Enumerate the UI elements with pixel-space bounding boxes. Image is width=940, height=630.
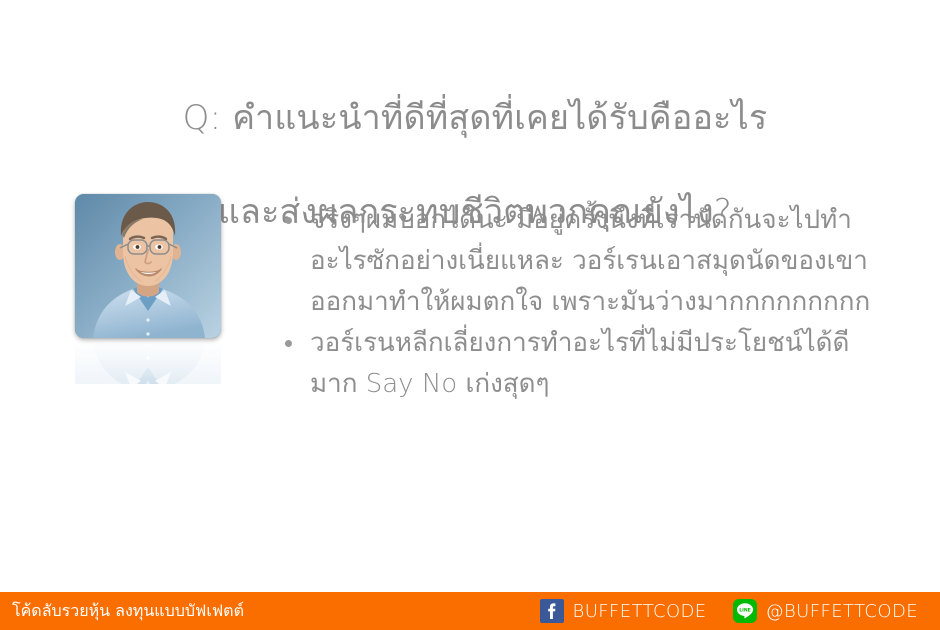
facebook-link[interactable]: BUFFETTCODE — [540, 599, 707, 623]
bullet-dot-icon — [285, 340, 292, 347]
bullet-text: วอร์เรนหลีกเลี่ยงการทำอะไรที่ไม่มีประโยช… — [310, 328, 849, 399]
portrait-photo — [75, 194, 221, 338]
portrait-figure — [75, 194, 221, 384]
facebook-icon[interactable] — [540, 599, 564, 623]
slide-canvas: Q: คำแนะนำที่ดีที่สุดที่เคยได้รับคืออะไร… — [0, 0, 940, 630]
line-link[interactable]: LINE @BUFFETTCODE — [733, 599, 918, 623]
line-handle[interactable]: @BUFFETTCODE — [766, 601, 918, 622]
footer-brand-text: โค้ดลับรวยหุ้น ลงทุนแบบบัฟเฟตต์ — [12, 592, 244, 630]
footer-bar: โค้ดลับรวยหุ้น ลงทุนแบบบัฟเฟตต์ BUFFETTC… — [0, 592, 940, 630]
line-icon[interactable]: LINE — [733, 599, 757, 623]
list-item: วอร์เรนหลีกเลี่ยงการทำอะไรที่ไม่มีประโยช… — [281, 323, 881, 405]
slide-title-line-1: Q: คำแนะนำที่ดีที่สุดที่เคยได้รับคืออะไร — [60, 95, 890, 142]
svg-text:LINE: LINE — [739, 607, 751, 613]
portrait-reflection — [75, 340, 221, 384]
bullet-list: จริงๆผมบอกได้นะ มีอยู่ครั้งนึงที่เรานัดก… — [281, 200, 881, 405]
footer-social-links: BUFFETTCODE LINE @BUFFETTCODE — [540, 592, 918, 630]
bullet-text: จริงๆผมบอกได้นะ มีอยู่ครั้งนึงที่เรานัดก… — [310, 205, 870, 317]
facebook-handle[interactable]: BUFFETTCODE — [573, 601, 707, 622]
bullet-dot-icon — [285, 217, 292, 224]
list-item: จริงๆผมบอกได้นะ มีอยู่ครั้งนึงที่เรานัดก… — [281, 200, 881, 323]
